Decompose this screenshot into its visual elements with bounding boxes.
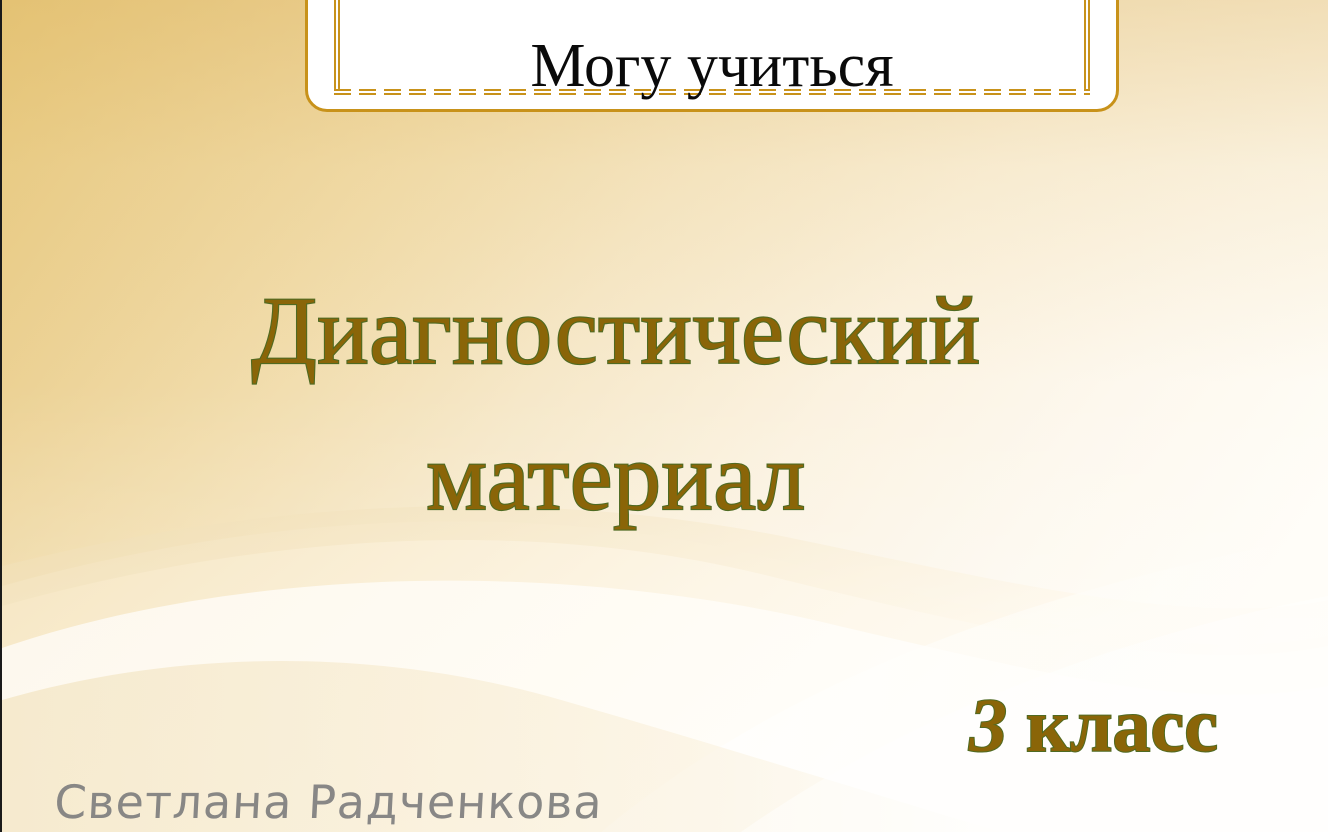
- author-watermark: Светлана Радченкова: [52, 778, 604, 832]
- title-slide: Могу учиться Диагностический материал 3 …: [0, 0, 1328, 832]
- author-watermark-line-1: Светлана Радченкова: [53, 775, 604, 829]
- plaque-title-text: Могу учиться: [308, 35, 1116, 97]
- page-title-line-2: материал: [66, 404, 1166, 550]
- grade-word: класс: [1026, 684, 1218, 768]
- page-title: Диагностический материал: [66, 258, 1166, 550]
- grade-number: 3: [969, 684, 1007, 768]
- title-plaque: Могу учиться: [305, 0, 1119, 112]
- grade-label: 3 класс: [969, 688, 1218, 764]
- page-title-line-1: Диагностический: [66, 258, 1166, 404]
